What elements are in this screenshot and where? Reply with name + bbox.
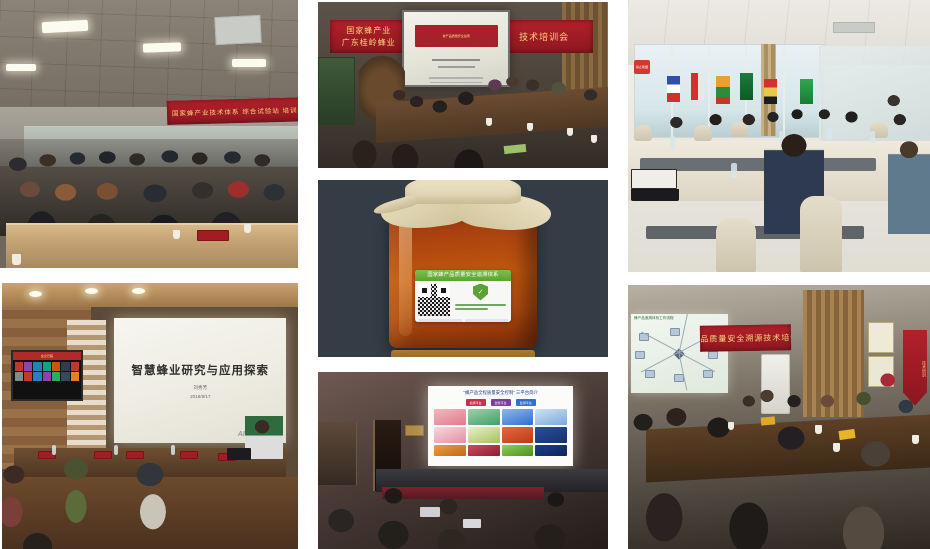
- office-chair: [716, 218, 756, 272]
- audience-crowd: [0, 139, 298, 235]
- tea-cup: [591, 135, 597, 143]
- foreground-person-right: [888, 136, 930, 234]
- tea-cup: [12, 254, 21, 265]
- photo-training-network[interactable]: 蜂产品追溯体系工作流程: [628, 285, 930, 549]
- photo-international-meeting[interactable]: 禁止吸烟: [628, 0, 930, 272]
- laptop: [420, 507, 440, 517]
- document-folder: [761, 416, 776, 425]
- banner-classroom: 国家蜂产业技术体系 综合试验站 培训班: [167, 97, 298, 125]
- ceiling-vent: [214, 15, 261, 45]
- traceability-label: 国家蜂产品质量安全追溯体系 ✓: [415, 270, 511, 322]
- jar-highlight: [399, 218, 412, 336]
- tea-cup: [244, 224, 251, 233]
- tea-cup: [728, 422, 734, 430]
- office-chair: [731, 122, 748, 137]
- ceiling-lamp: [232, 59, 266, 67]
- office-chair: [634, 125, 652, 141]
- office-chair: [800, 196, 842, 272]
- photo-honey-jar[interactable]: 国家蜂产品质量安全追溯体系 ✓: [318, 180, 608, 357]
- photo-collage: 国家蜂产业技术体系 综合试验站 培训班 国家蜂产业 广东桂岭蜂业 技术培训会: [0, 0, 930, 549]
- label-info-lines: [453, 303, 508, 312]
- presenter-desk: [6, 223, 298, 268]
- foreground-attendees: [628, 285, 930, 549]
- studio-backdrop: 国家蜂产品质量安全追溯体系 ✓: [318, 180, 608, 357]
- cloth-lid-cover: [375, 180, 551, 232]
- tea-cup: [173, 230, 180, 239]
- audience-people: [2, 283, 298, 549]
- water-bottle: [870, 131, 875, 143]
- qr-code[interactable]: [418, 284, 450, 316]
- label-header: 国家蜂产品质量安全追溯体系: [415, 270, 511, 281]
- tea-cup: [527, 123, 533, 131]
- jar-base: [391, 350, 535, 358]
- water-bottle: [827, 128, 832, 140]
- name-plate: [197, 230, 229, 241]
- photo-classroom-training[interactable]: 国家蜂产业技术体系 综合试验站 培训班: [0, 0, 298, 268]
- ceiling-lamp: [6, 64, 36, 71]
- label-chip-traceable: [418, 319, 462, 322]
- water-bottle: [670, 136, 675, 149]
- photo-conference-banner[interactable]: 国家蜂产业 广东桂岭蜂业 技术培训会 蜂产品质量安全追溯: [318, 2, 608, 168]
- honey-jar: 国家蜂产品质量安全追溯体系 ✓: [389, 180, 537, 357]
- office-chair: [694, 125, 712, 141]
- ceiling-lamp: [143, 42, 181, 52]
- label-chip-verified: [465, 319, 509, 322]
- laptop[interactable]: [631, 169, 675, 199]
- tea-cup: [912, 435, 919, 444]
- laptop: [463, 519, 481, 528]
- foreground-seated: [318, 2, 608, 168]
- water-bottle: [731, 163, 737, 178]
- certification-shield-icon: ✓: [473, 284, 488, 301]
- photo-lecture-hall[interactable]: 会议日程 智慧蜂业研究与应用探索 刘秀芳 2018/9/17: [2, 283, 298, 549]
- banner-text: 国家蜂产业技术体系 综合试验站 培训班: [172, 104, 298, 117]
- tea-cup: [815, 425, 822, 434]
- photo-dark-room-slide[interactable]: "蜂产品全程质量安全控制" 三平台简介 追溯平台 监管平台 监测平台: [318, 372, 608, 549]
